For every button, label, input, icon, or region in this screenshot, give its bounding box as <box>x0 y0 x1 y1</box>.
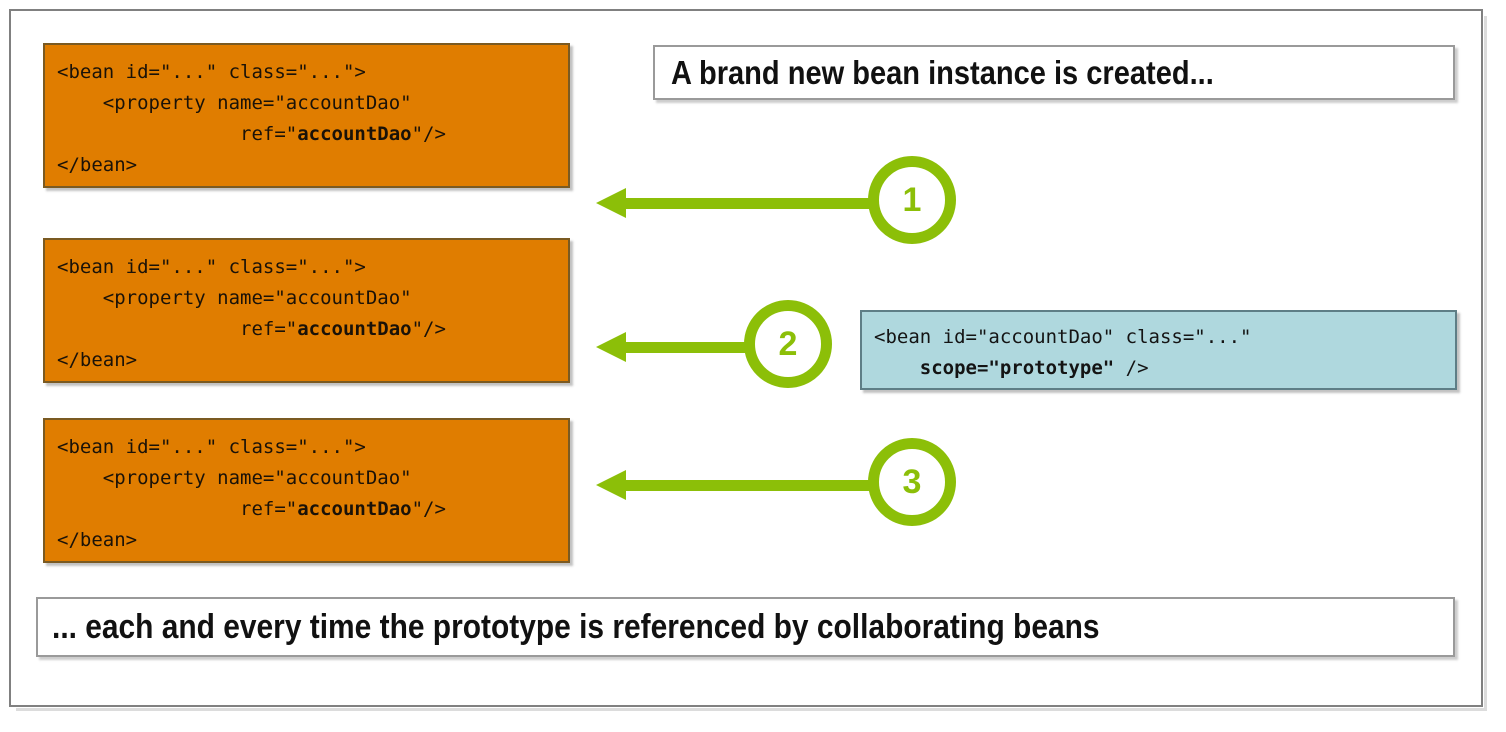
diagram-canvas: <bean id="..." class="..."> <property na… <box>0 0 1506 732</box>
title-banner: A brand new bean instance is created... <box>653 45 1455 100</box>
bean-line-4: </bean> <box>57 529 137 551</box>
bean-line-3-prefix: ref=" <box>57 318 297 340</box>
bean-line-3-ref-value: accountDao <box>297 318 411 340</box>
bean-line-2: <property name="accountDao" <box>57 92 412 114</box>
bean-code-text-1: <bean id="..." class="..."> <property na… <box>57 57 562 181</box>
bean-line-1: <bean id="..." class="..."> <box>57 61 366 83</box>
step-number-label: 3 <box>903 465 922 499</box>
bean-line-3-suffix: "/> <box>412 123 446 145</box>
footer-banner: ... each and every time the prototype is… <box>36 597 1455 657</box>
step-circle-1: 1 <box>868 156 956 244</box>
bean-code-text-3: <bean id="..." class="..."> <property na… <box>57 432 562 556</box>
bean-line-3-prefix: ref=" <box>57 498 297 520</box>
bean-line-3-suffix: "/> <box>412 498 446 520</box>
bean-line-3-ref-value: accountDao <box>297 123 411 145</box>
prototype-bean-text: <bean id="accountDao" class="..." scope=… <box>874 322 1252 384</box>
bean-line-2: <property name="accountDao" <box>57 287 412 309</box>
bean-line-3-ref-value: accountDao <box>297 498 411 520</box>
prototype-bean-block: <bean id="accountDao" class="..." scope=… <box>860 310 1457 390</box>
prototype-scope-attribute: scope="prototype" <box>920 357 1114 379</box>
prototype-line-2-indent <box>874 357 920 379</box>
bean-code-block-1: <bean id="..." class="..."> <property na… <box>43 43 570 188</box>
arrow-group-2: 2 <box>596 300 840 400</box>
footer-banner-text: ... each and every time the prototype is… <box>52 608 1100 647</box>
bean-line-1: <bean id="..." class="..."> <box>57 256 366 278</box>
bean-line-3-suffix: "/> <box>412 318 446 340</box>
title-banner-text: A brand new bean instance is created... <box>671 54 1214 92</box>
bean-line-4: </bean> <box>57 349 137 371</box>
bean-code-text-2: <bean id="..." class="..."> <property na… <box>57 252 562 376</box>
bean-line-1: <bean id="..." class="..."> <box>57 436 366 458</box>
step-number-label: 1 <box>903 183 922 217</box>
arrow-group-3: 3 <box>596 438 964 538</box>
prototype-line-2-suffix: /> <box>1114 357 1148 379</box>
arrow-shaft <box>622 480 874 491</box>
arrow-shaft <box>622 342 750 353</box>
bean-line-2: <property name="accountDao" <box>57 467 412 489</box>
prototype-line-1: <bean id="accountDao" class="..." <box>874 326 1252 348</box>
bean-code-block-2: <bean id="..." class="..."> <property na… <box>43 238 570 383</box>
bean-line-3-prefix: ref=" <box>57 123 297 145</box>
arrow-shaft <box>622 198 874 209</box>
step-circle-2: 2 <box>744 300 832 388</box>
step-number-label: 2 <box>779 327 798 361</box>
arrow-group-1: 1 <box>596 156 964 256</box>
bean-code-block-3: <bean id="..." class="..."> <property na… <box>43 418 570 563</box>
bean-line-4: </bean> <box>57 154 137 176</box>
step-circle-3: 3 <box>868 438 956 526</box>
